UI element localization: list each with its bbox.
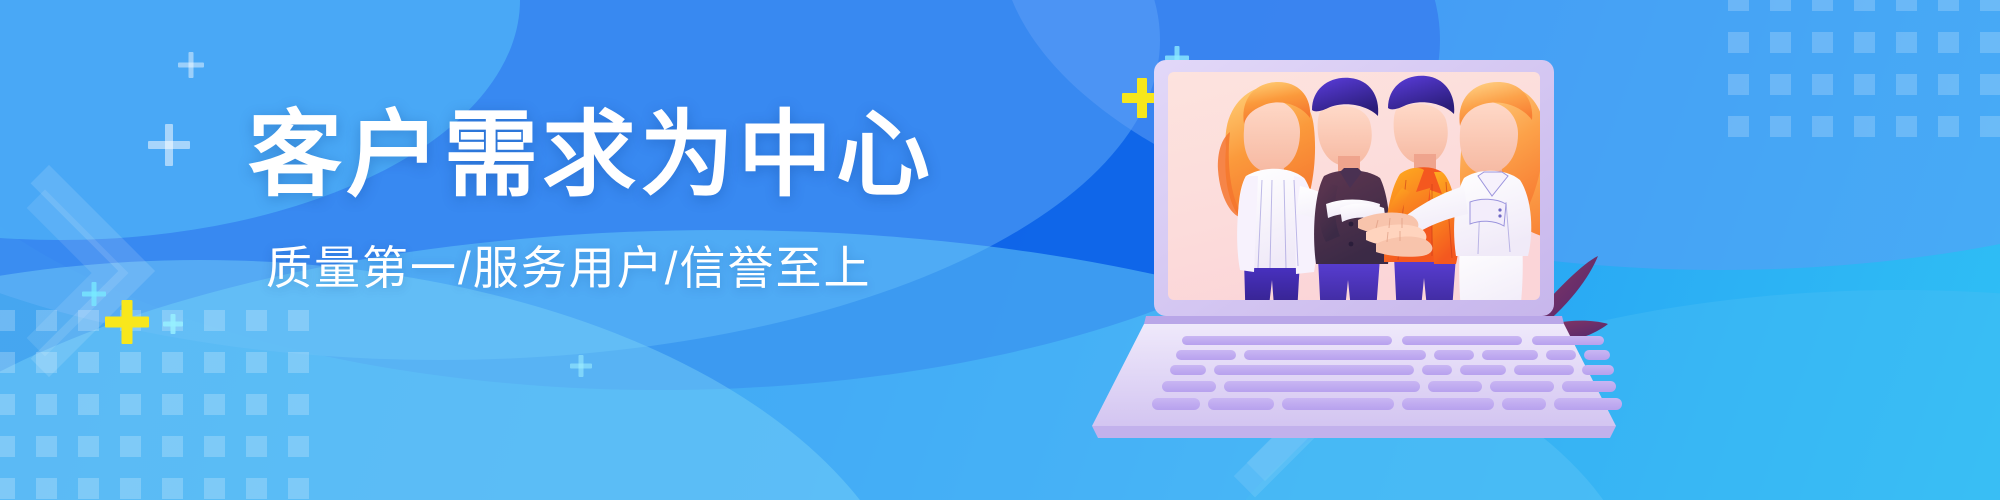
grid-dot bbox=[0, 394, 15, 415]
grid-dot bbox=[246, 394, 267, 415]
grid-dot bbox=[204, 478, 225, 499]
grid-dot bbox=[162, 436, 183, 457]
grid-dot bbox=[1854, 0, 1875, 11]
grid-dot bbox=[1896, 32, 1917, 53]
grid-dot bbox=[1854, 32, 1875, 53]
chevron-icon-left-inner bbox=[0, 190, 128, 357]
grid-dot bbox=[1770, 32, 1791, 53]
grid-dot bbox=[36, 478, 57, 499]
banner-text-block: 客户需求为中心 质量第一/服务用户/信誉至上 bbox=[248, 104, 948, 298]
grid-dot bbox=[78, 394, 99, 415]
grid-dot bbox=[246, 436, 267, 457]
grid-dot bbox=[1770, 0, 1791, 11]
grid-dot bbox=[1980, 74, 2000, 95]
laptop-team-illustration bbox=[1140, 52, 1640, 452]
grid-dot bbox=[1938, 0, 1959, 11]
laptop-hinge bbox=[1144, 316, 1564, 324]
grid-dot bbox=[162, 394, 183, 415]
grid-dot bbox=[288, 310, 309, 331]
grid-dot bbox=[0, 352, 15, 373]
grid-dot bbox=[36, 436, 57, 457]
grid-dot bbox=[0, 436, 15, 457]
grid-dot bbox=[1770, 74, 1791, 95]
cross-sparkle-icon-bottom-cyan bbox=[82, 282, 106, 306]
grid-dot bbox=[78, 436, 99, 457]
grid-dot bbox=[1812, 0, 1833, 11]
chevron-icon-left-outer bbox=[0, 165, 155, 377]
grid-dot bbox=[1980, 32, 2000, 53]
grid-dot bbox=[1728, 116, 1749, 137]
dot-grid-top-right bbox=[1728, 0, 2000, 146]
grid-dot bbox=[162, 310, 183, 331]
grid-dot bbox=[1938, 116, 1959, 137]
dot-grid-bottom-left bbox=[0, 310, 318, 500]
grid-dot bbox=[1896, 0, 1917, 11]
grid-dot bbox=[120, 478, 141, 499]
grid-dot bbox=[120, 436, 141, 457]
grid-dot bbox=[288, 394, 309, 415]
grid-dot bbox=[120, 310, 141, 331]
grid-dot bbox=[1896, 116, 1917, 137]
laptop-base-edge bbox=[1092, 426, 1616, 438]
grid-dot bbox=[0, 478, 15, 499]
grid-dot bbox=[1896, 74, 1917, 95]
grid-dot bbox=[288, 478, 309, 499]
grid-dot bbox=[78, 310, 99, 331]
grid-dot bbox=[1812, 74, 1833, 95]
grid-dot bbox=[1854, 116, 1875, 137]
grid-dot bbox=[36, 352, 57, 373]
grid-dot bbox=[1728, 74, 1749, 95]
cross-sparkle-icon-top-left-large bbox=[148, 124, 190, 166]
cross-sparkle-icon-middle bbox=[570, 355, 592, 377]
grid-dot bbox=[120, 394, 141, 415]
cross-sparkle-icon-bottom-cyan-two bbox=[163, 314, 183, 334]
grid-dot bbox=[1980, 116, 2000, 137]
banner-subtitle: 质量第一/服务用户/信誉至上 bbox=[266, 232, 948, 298]
grid-dot bbox=[246, 310, 267, 331]
cross-sparkle-icon-bottom-yellow bbox=[105, 300, 149, 344]
cross-sparkle-icon-top-left-small bbox=[178, 52, 204, 78]
grid-dot bbox=[1812, 32, 1833, 53]
grid-dot bbox=[1980, 0, 2000, 11]
grid-dot bbox=[1938, 32, 1959, 53]
grid-dot bbox=[246, 478, 267, 499]
grid-dot bbox=[288, 436, 309, 457]
grid-dot bbox=[36, 310, 57, 331]
grid-dot bbox=[246, 352, 267, 373]
grid-dot bbox=[162, 478, 183, 499]
grid-dot bbox=[78, 478, 99, 499]
grid-dot bbox=[0, 310, 15, 331]
banner-headline: 客户需求为中心 bbox=[248, 104, 948, 206]
grid-dot bbox=[36, 394, 57, 415]
grid-dot bbox=[204, 310, 225, 331]
promo-banner: 客户需求为中心 质量第一/服务用户/信誉至上 bbox=[0, 0, 2000, 500]
grid-dot bbox=[1938, 74, 1959, 95]
grid-dot bbox=[1728, 32, 1749, 53]
grid-dot bbox=[204, 394, 225, 415]
grid-dot bbox=[1728, 0, 1749, 11]
grid-dot bbox=[1812, 116, 1833, 137]
grid-dot bbox=[162, 352, 183, 373]
grid-dot bbox=[120, 352, 141, 373]
grid-dot bbox=[204, 352, 225, 373]
grid-dot bbox=[204, 436, 225, 457]
grid-dot bbox=[78, 352, 99, 373]
grid-dot bbox=[288, 352, 309, 373]
grid-dot bbox=[1770, 116, 1791, 137]
grid-dot bbox=[1854, 74, 1875, 95]
